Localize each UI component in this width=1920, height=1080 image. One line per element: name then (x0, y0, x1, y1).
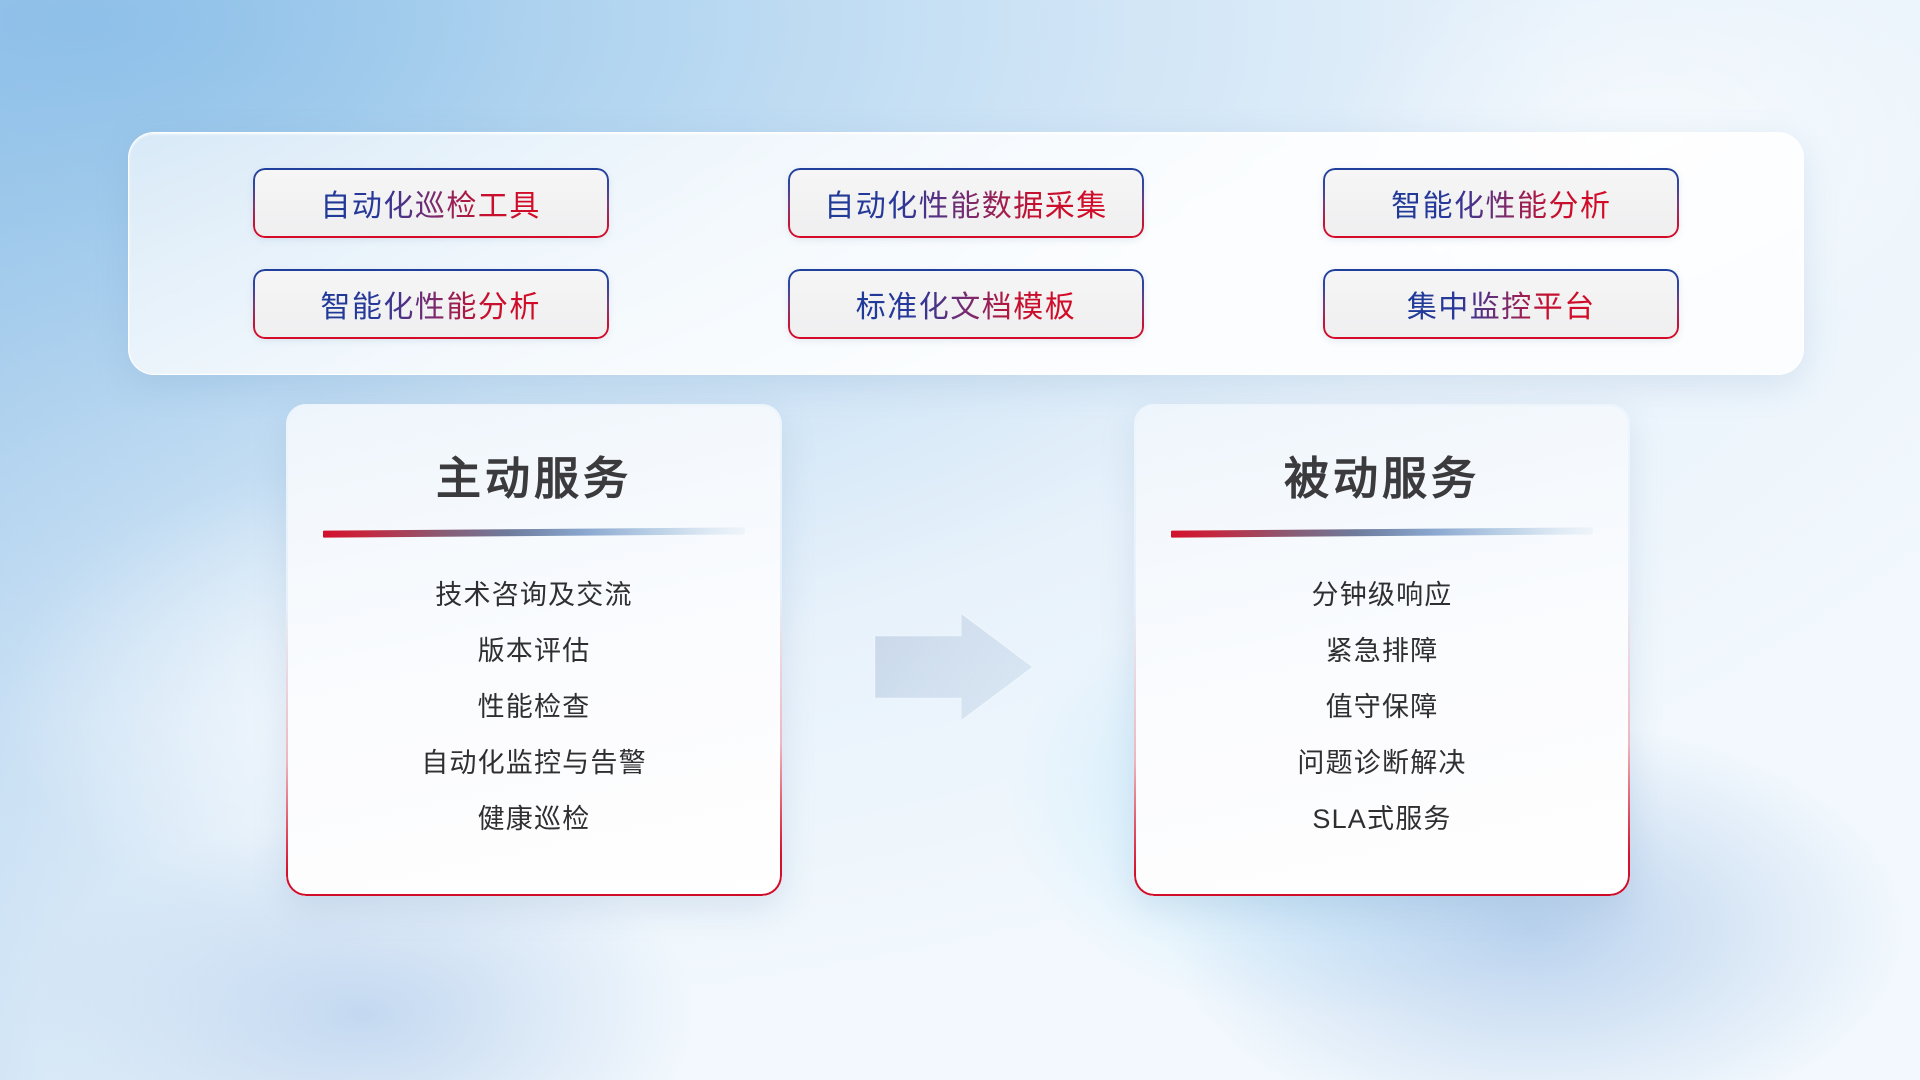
capability-chip-centralized-monitoring-platform[interactable]: 集中监控平台 (1323, 269, 1679, 339)
service-card-item-list: 分钟级响应 紧急排障 值守保障 问题诊断解决 SLA式服务 (1134, 568, 1630, 848)
service-list-item: 问题诊断解决 (1297, 736, 1466, 792)
capability-chip-label: 集中监控平台 (1407, 282, 1596, 326)
service-card-title: 主动服务 (286, 442, 782, 507)
service-card-title: 被动服务 (1134, 442, 1630, 507)
capability-chip-label: 智能化性能分析 (1391, 181, 1612, 225)
service-list-item: 版本评估 (478, 624, 591, 680)
capability-chip-intelligent-performance-analysis-top[interactable]: 智能化性能分析 (1323, 168, 1679, 238)
service-list-item: SLA式服务 (1312, 792, 1451, 848)
service-card-item-list: 技术咨询及交流 版本评估 性能检查 自动化监控与告警 健康巡检 (286, 568, 782, 848)
capability-chip-standardized-document-template[interactable]: 标准化文档模板 (788, 269, 1144, 339)
capability-chip-label: 智能化性能分析 (320, 282, 541, 326)
service-list-item: 自动化监控与告警 (421, 736, 647, 792)
service-card-proactive: 主动服务 技术咨询及交流 版本评估 性能检查 自动化监控与告警 健康巡检 (286, 404, 782, 896)
capability-chip-label: 自动化性能数据采集 (824, 181, 1108, 225)
service-list-item: 紧急排障 (1326, 624, 1439, 680)
service-list-item: 分钟级响应 (1312, 568, 1453, 624)
service-list-item: 性能检查 (478, 680, 591, 736)
service-card-divider (1171, 527, 1593, 537)
capability-chip-intelligent-performance-analysis-bottom[interactable]: 智能化性能分析 (253, 269, 609, 339)
service-list-item: 健康巡检 (478, 792, 591, 848)
capability-chip-label: 自动化巡检工具 (320, 181, 541, 225)
capability-panel: 自动化巡检工具 自动化性能数据采集 智能化性能分析 智能化性能分析 标准化文档模… (128, 132, 1804, 375)
capability-chip-automated-performance-data-collection[interactable]: 自动化性能数据采集 (788, 168, 1144, 238)
service-card-reactive: 被动服务 分钟级响应 紧急排障 值守保障 问题诊断解决 SLA式服务 (1134, 404, 1630, 896)
service-list-item: 值守保障 (1326, 680, 1439, 736)
service-card-divider (323, 527, 745, 537)
capability-chip-automated-inspection-tool[interactable]: 自动化巡检工具 (253, 168, 609, 238)
capability-chip-label: 标准化文档模板 (856, 282, 1077, 326)
service-list-item: 技术咨询及交流 (435, 568, 632, 624)
capability-chip-grid: 自动化巡检工具 自动化性能数据采集 智能化性能分析 智能化性能分析 标准化文档模… (129, 133, 1803, 374)
